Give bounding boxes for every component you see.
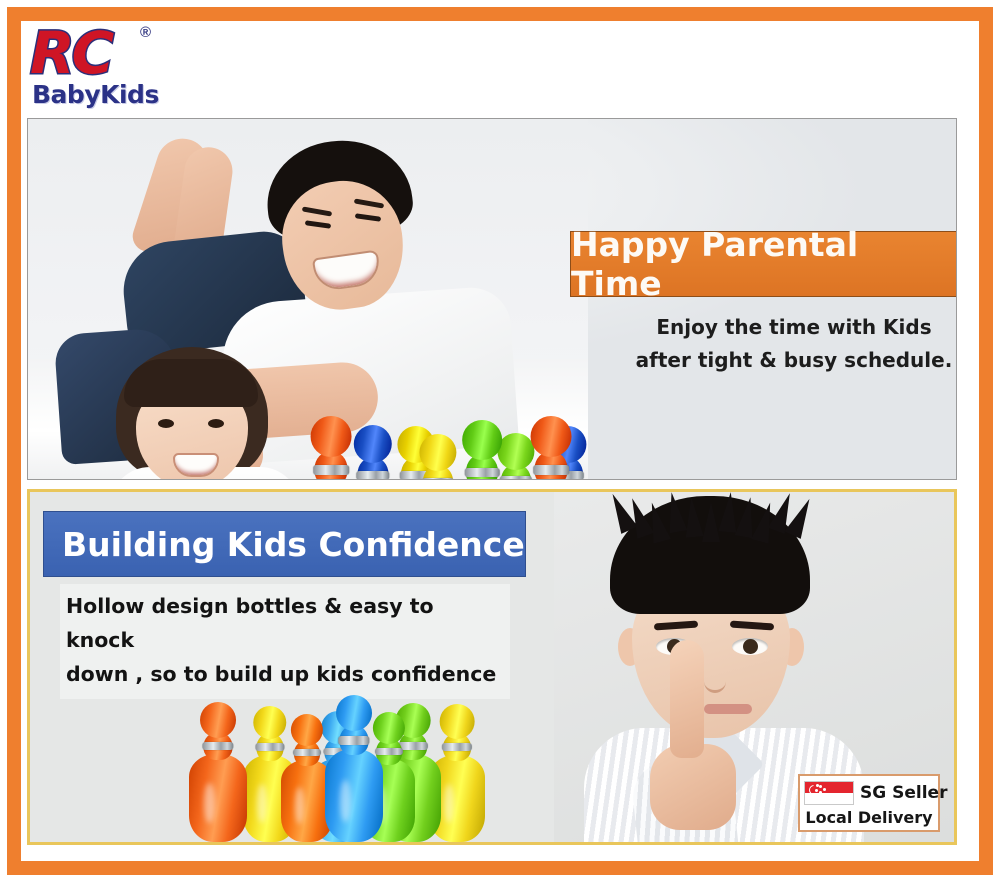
pin-highlight (444, 784, 454, 823)
flag-star-4 (815, 789, 818, 792)
bottom-heading-text: Building Kids Confidence (62, 525, 525, 564)
pin-highlight (257, 784, 267, 823)
pin-highlight (204, 783, 214, 823)
hair-spike (702, 502, 720, 542)
pin-head (462, 420, 502, 460)
sg-seller-badge: SG Seller Local Delivery (798, 774, 940, 832)
pin-decorative-band (442, 743, 472, 751)
pin-head (311, 416, 352, 457)
bottom-subtext-line-1: Hollow design bottles & easy to knock (66, 590, 506, 658)
local-delivery-label: Local Delivery (804, 806, 934, 830)
pin-head (291, 714, 323, 746)
top-subtext-line-2: after tight & busy schedule. (624, 344, 957, 377)
girl-eye-right (208, 419, 224, 428)
pin-decorative-band (465, 468, 500, 477)
bottom-heading-bar: Building Kids Confidence (43, 511, 526, 577)
pin-decorative-band (202, 742, 233, 750)
bowling-pins-bottom (185, 660, 485, 842)
boy-mouth (704, 704, 752, 714)
sg-seller-label: SG Seller (860, 783, 947, 803)
pin-decorative-band (293, 749, 321, 756)
pin-head (531, 416, 572, 457)
bowling-pin (325, 692, 383, 842)
singapore-flag-icon (804, 781, 854, 805)
top-subtext: Enjoy the time with Kids after tight & b… (624, 311, 957, 377)
brand-logo: RC ® BabyKids (22, 22, 282, 114)
top-feature-panel: Happy Parental Time Enjoy the time with … (27, 118, 957, 480)
pin-decorative-band (533, 465, 569, 475)
pin-head (440, 704, 475, 739)
top-heading-bar: Happy Parental Time (570, 231, 957, 297)
flag-star-1 (819, 785, 822, 788)
flag-star-5 (816, 784, 819, 787)
bowling-pin (298, 413, 364, 480)
pin-head (336, 695, 372, 731)
flag-star-2 (823, 788, 826, 791)
top-heading-text: Happy Parental Time (571, 225, 957, 303)
advertisement-banner: RC ® BabyKids (0, 0, 1000, 882)
pin-head (200, 702, 236, 738)
pin-decorative-band (313, 465, 349, 475)
logo-mark-rc: RC (30, 24, 111, 82)
logo-subtitle: BabyKids (32, 80, 159, 109)
girl-eye-left (158, 419, 174, 428)
girl-bangs (124, 359, 258, 407)
pin-decorative-band (338, 736, 369, 744)
top-subtext-line-1: Enjoy the time with Kids (624, 311, 957, 344)
bowling-pin (450, 417, 514, 480)
flag-star-3 (819, 791, 822, 794)
sg-badge-top-row: SG Seller (804, 779, 934, 806)
bottom-feature-panel: Building Kids Confidence Hollow design b… (27, 489, 957, 845)
boy-pupil-right (743, 639, 758, 654)
thumbs-up-icon (670, 640, 704, 758)
boy-nose (704, 670, 726, 693)
bowling-pins-top (290, 359, 610, 480)
pin-body (325, 749, 383, 842)
pin-body (189, 754, 247, 842)
pin-highlight (340, 780, 350, 822)
registered-trademark-icon: ® (140, 24, 151, 41)
pin-highlight (295, 787, 304, 824)
bowling-pin (189, 700, 247, 842)
boy-hair-spikes (606, 492, 816, 542)
hair-spike (682, 496, 703, 537)
bowling-pin (518, 413, 584, 480)
